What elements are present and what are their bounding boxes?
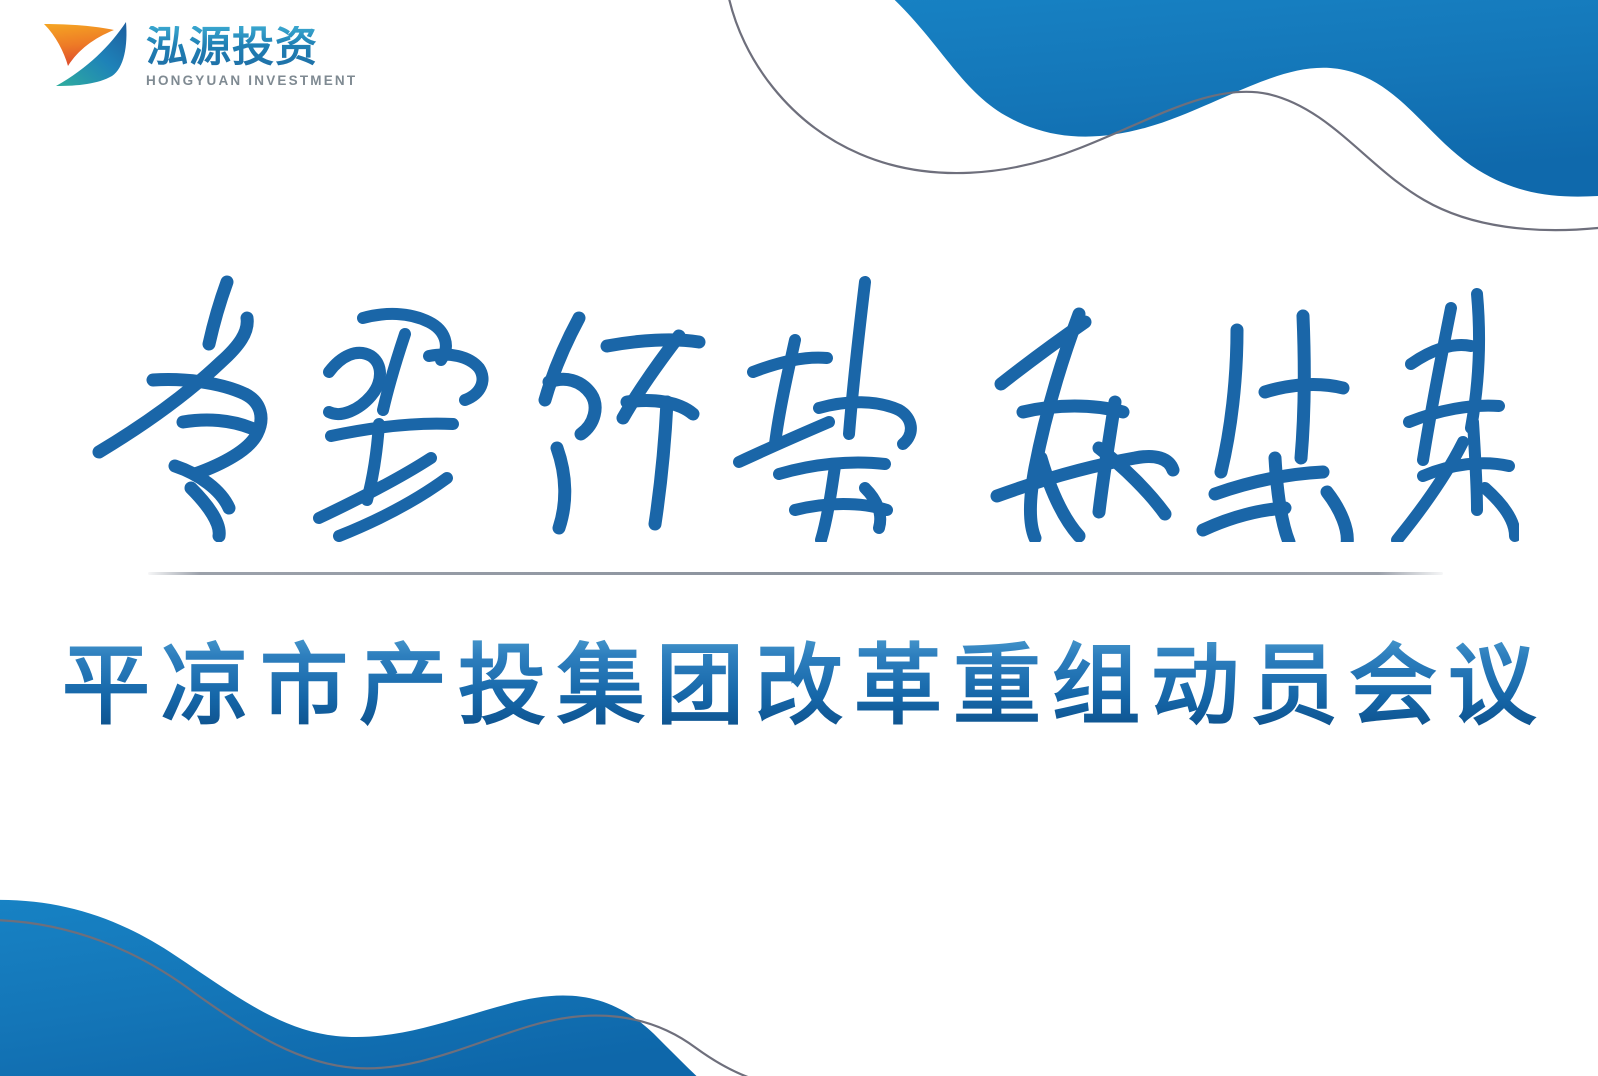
brand-logo[interactable]: 泓源投资 HONGYUAN INVESTMENT xyxy=(36,16,357,94)
glyph-fa xyxy=(1397,294,1515,540)
headline-calligraphy-strokes xyxy=(79,252,1519,542)
headline-calligraphy: 重整行装 再出发 xyxy=(0,252,1598,542)
poster-canvas: 泓源投资 HONGYUAN INVESTMENT xyxy=(0,0,1598,1076)
top-right-blue-wave xyxy=(884,0,1598,197)
hongyuan-arrow-logo-icon xyxy=(36,16,132,94)
headline-divider xyxy=(148,572,1443,575)
glyph-chu xyxy=(1203,316,1347,542)
brand-name-cn: 泓源投资 xyxy=(146,26,357,69)
glyph-xing xyxy=(545,318,699,528)
glyph-zhong xyxy=(99,282,261,536)
glyph-zheng xyxy=(319,314,483,536)
top-right-thin-curve xyxy=(728,0,1598,230)
bottom-left-blue-wave xyxy=(0,900,712,1076)
brand-name-en: HONGYUAN INVESTMENT xyxy=(146,73,357,88)
glyph-zhuang xyxy=(739,282,911,540)
subtitle-text: 平凉市产投集团改革重组动员会议 xyxy=(0,630,1598,746)
brand-logo-text: 泓源投资 HONGYUAN INVESTMENT xyxy=(146,22,357,88)
bottom-left-thin-curve xyxy=(0,920,812,1076)
glyph-zai xyxy=(997,314,1173,538)
